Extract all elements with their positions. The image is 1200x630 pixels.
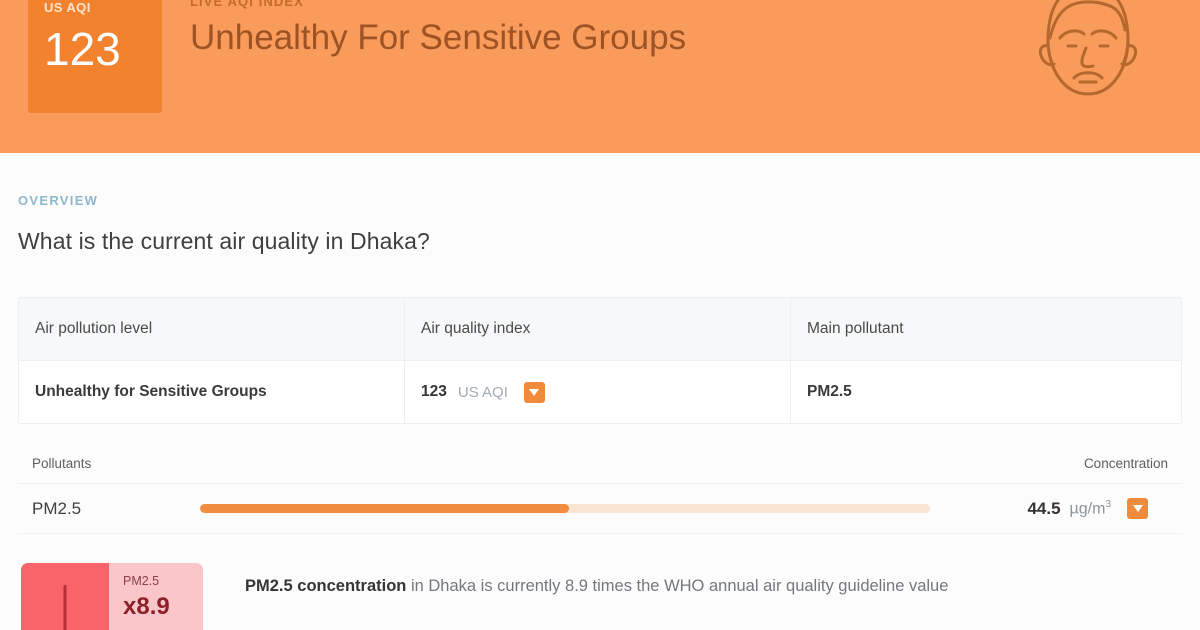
pollutants-section: Pollutants Concentration PM2.5 44.5 µg/m… (18, 456, 1182, 534)
who-card-body: PM2.5 x8.9 (109, 563, 203, 630)
table-row: Unhealthy for Sensitive Groups 123 US AQ… (19, 361, 1181, 423)
who-guideline-text: PM2.5 concentration in Dhaka is currentl… (245, 575, 948, 599)
aqi-box-value: 123 (44, 25, 146, 73)
pollutant-concentration: 44.5 µg/m3 (958, 498, 1148, 519)
pollutant-level-bar-fill (200, 504, 569, 513)
cell-pollution-level: Unhealthy for Sensitive Groups (19, 361, 405, 423)
page-title: What is the current air quality in Dhaka… (18, 228, 1182, 255)
list-item: PM2.5 44.5 µg/m3 (18, 484, 1182, 534)
sad-face-icon (1024, 0, 1152, 128)
pollutant-level-bar (200, 504, 930, 513)
banner-title: Unhealthy For Sensitive Groups (190, 17, 686, 59)
who-text-rest: in Dhaka is currently 8.9 times the WHO … (406, 577, 948, 595)
pollutant-name: PM2.5 (32, 499, 200, 519)
aqi-score-box: US AQI 123 (28, 0, 162, 113)
who-card-multiplier: x8.9 (123, 595, 203, 619)
who-gauge-graphic (21, 563, 109, 630)
who-text-bold: PM2.5 concentration (245, 577, 406, 595)
gauge-needle-icon (64, 585, 67, 630)
banner-text-block: LIVE AQI INDEX Unhealthy For Sensitive G… (190, 0, 686, 59)
aqi-value: 123 (421, 383, 447, 401)
banner-kicker: LIVE AQI INDEX (190, 0, 686, 9)
who-card-pollutant: PM2.5 (123, 574, 203, 588)
col-header-pollutants: Pollutants (32, 456, 91, 471)
cell-air-quality-index: 123 US AQI (405, 361, 791, 423)
pollutants-header-row: Pollutants Concentration (18, 456, 1182, 484)
col-header-air-quality-index: Air quality index (405, 298, 791, 360)
triangle-down-icon (1127, 498, 1148, 519)
air-quality-table: Air pollution level Air quality index Ma… (18, 297, 1182, 424)
main-content: OVERVIEW What is the current air quality… (0, 193, 1200, 630)
aqi-banner: US AQI 123 LIVE AQI INDEX Unhealthy For … (0, 0, 1200, 153)
concentration-value: 44.5 (1027, 499, 1060, 519)
who-guideline-callout: PM2.5 x8.9 PM2.5 concentration in Dhaka … (18, 563, 1182, 630)
col-header-concentration: Concentration (1084, 456, 1168, 471)
col-header-main-pollutant: Main pollutant (791, 298, 1181, 360)
who-multiplier-card: PM2.5 x8.9 (21, 563, 203, 630)
aqi-unit: US AQI (458, 384, 508, 401)
col-header-air-pollution-level: Air pollution level (19, 298, 405, 360)
overview-kicker: OVERVIEW (18, 193, 1182, 208)
concentration-unit: µg/m3 (1070, 499, 1111, 518)
cell-main-pollutant: PM2.5 (791, 361, 1181, 423)
triangle-down-icon (524, 382, 545, 403)
table-header-row: Air pollution level Air quality index Ma… (19, 298, 1181, 361)
aqi-box-label: US AQI (44, 0, 146, 15)
